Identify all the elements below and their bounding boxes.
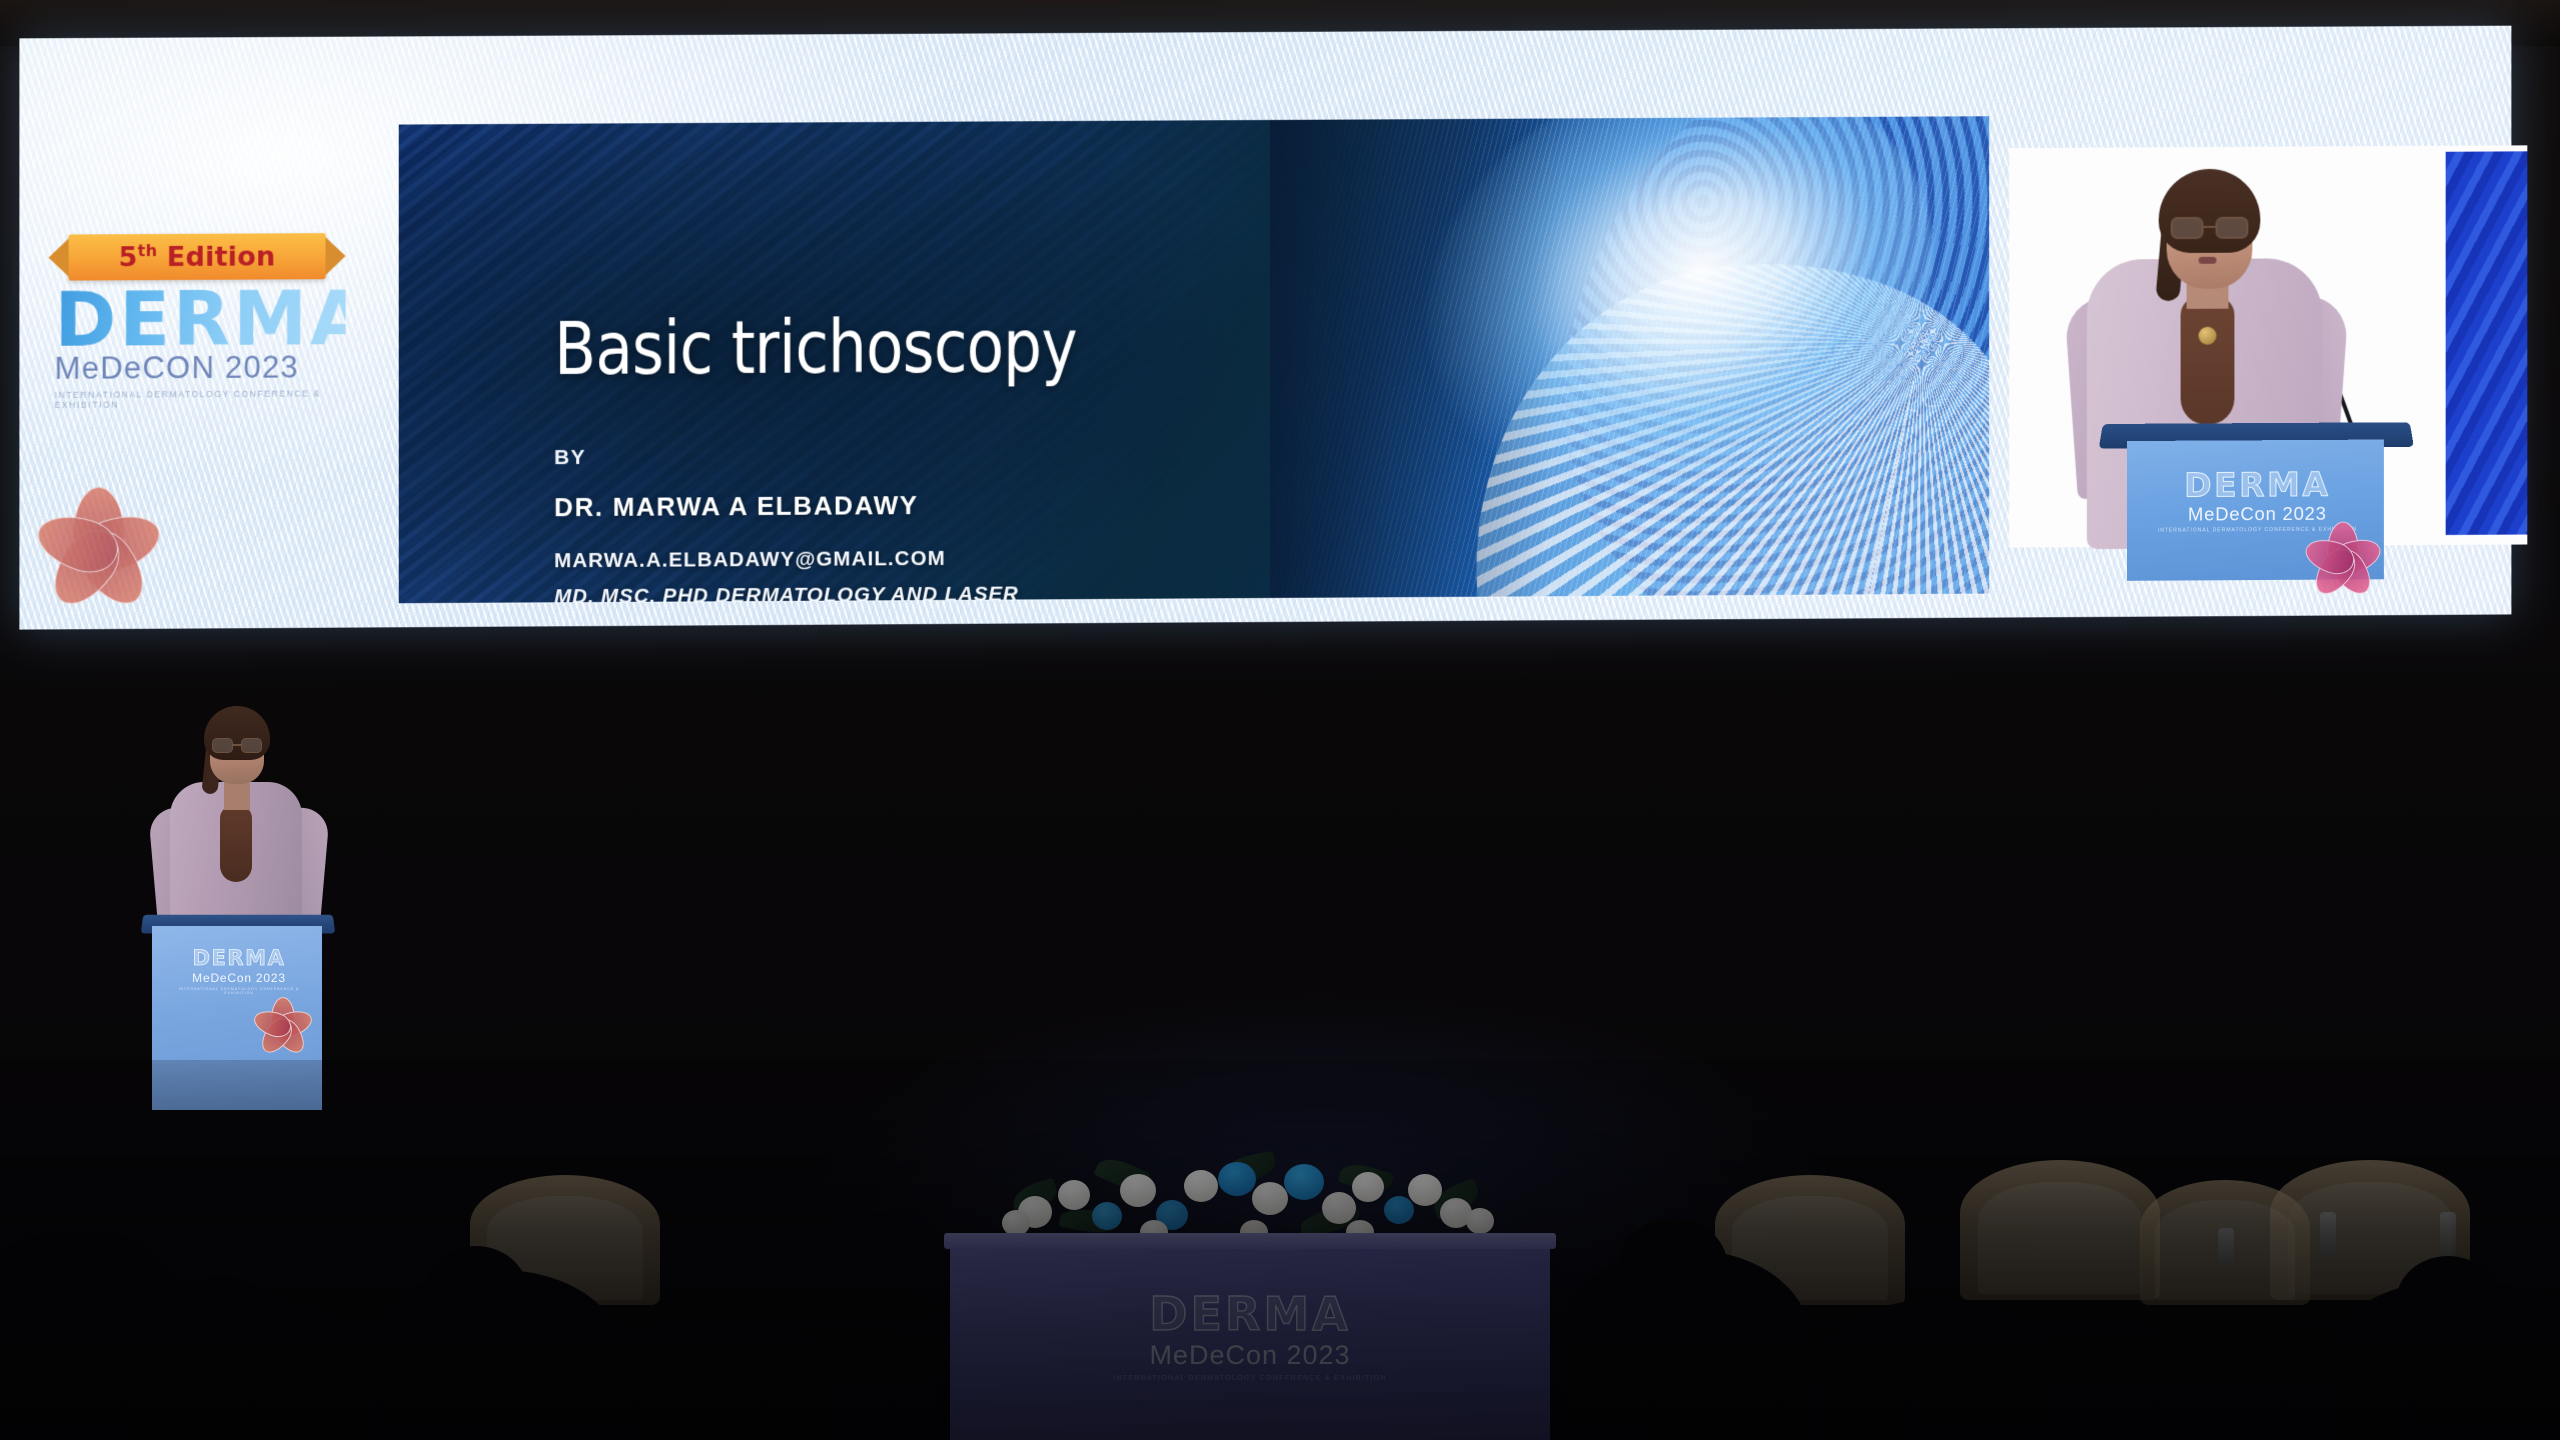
slide-title: Basic trichoscopy	[554, 304, 1077, 392]
table-brand: DERMA	[950, 1291, 1550, 1337]
presentation-slide: Basic trichoscopy BY DR. MARWA A ELBADAW…	[399, 116, 1989, 603]
glasses-icon	[2171, 217, 2249, 239]
stage-speaker-scarf	[220, 806, 252, 882]
audience-head	[424, 1246, 528, 1340]
audience-silhouette	[600, 1320, 840, 1440]
audience-head	[2396, 1256, 2500, 1348]
event-brand-name: DERMA	[55, 285, 346, 355]
audience-head	[166, 1276, 276, 1374]
water-bottle	[2218, 1228, 2234, 1264]
podium-brand-sub: MeDeCon 2023	[176, 971, 302, 985]
credential-line: MD, MSC. PHD DERMATOLOGY AND LASER	[554, 580, 1705, 603]
speaker-scarf	[2181, 297, 2235, 425]
stage-speaker-neck	[224, 782, 250, 810]
table-logo: DERMA MeDeCon 2023 INTERNATIONAL DERMATO…	[950, 1291, 1550, 1382]
table-brand-sub: MeDeCon 2023	[950, 1340, 1550, 1371]
water-bottle	[2440, 1212, 2456, 1256]
speaker-video-inset: DERMA MeDeCon 2023 INTERNATIONAL DERMATO…	[2009, 145, 2527, 547]
slide-credentials: MARWA.A.ELBADAWY@GMAIL.COM MD, MSC. PHD …	[554, 544, 1705, 603]
speaker-mouth	[2199, 257, 2217, 264]
table-top-edge	[944, 1233, 1556, 1249]
podium-lotus-icon	[250, 994, 316, 1060]
slide-text-block: Basic trichoscopy BY DR. MARWA A ELBADAW…	[399, 116, 1989, 603]
inset-podium-brand: DERMA	[2155, 468, 2360, 502]
speaker-brooch	[2199, 327, 2217, 345]
stage-glasses-icon	[212, 738, 262, 753]
podium-logo: DERMA MeDeCon 2023 INTERNATIONAL DERMATO…	[176, 948, 302, 995]
conference-hall-scene: 5th Edition DERMA MeDeCON 2023 INTERNATI…	[0, 0, 2560, 1440]
head-table: DERMA MeDeCon 2023 INTERNATIONAL DERMATO…	[950, 1245, 1550, 1440]
projection-screen: 5th Edition DERMA MeDeCON 2023 INTERNATI…	[19, 26, 2511, 630]
credential-line: MARWA.A.ELBADAWY@GMAIL.COM	[554, 544, 1705, 571]
slide-by-label: BY	[554, 446, 586, 470]
table-tagline: INTERNATIONAL DERMATOLOGY CONFERENCE & E…	[950, 1375, 1550, 1382]
inset-podium-lotus-icon	[2300, 517, 2386, 603]
slide-author-name: DR. MARWA A ELBADAWY	[554, 490, 918, 523]
audience-head	[1618, 1218, 1728, 1318]
event-tagline: INTERNATIONAL DERMATOLOGY CONFERENCE & E…	[55, 388, 346, 410]
event-logo: 5th Edition DERMA MeDeCON 2023 INTERNATI…	[55, 233, 346, 410]
audience-head	[58, 1232, 154, 1320]
podium-brand: DERMA	[176, 948, 302, 969]
audience-silhouette	[1820, 1300, 2050, 1440]
edition-badge-label: 5th Edition	[119, 240, 276, 273]
lotus-flower-graphic	[23, 474, 174, 625]
edition-badge-ribbon: 5th Edition	[69, 233, 326, 280]
inset-blue-sidebar	[2446, 151, 2528, 535]
water-bottle	[2320, 1212, 2336, 1256]
stage-podium-area: DERMA MeDeCon 2023 INTERNATIONAL DERMATO…	[132, 690, 362, 1110]
